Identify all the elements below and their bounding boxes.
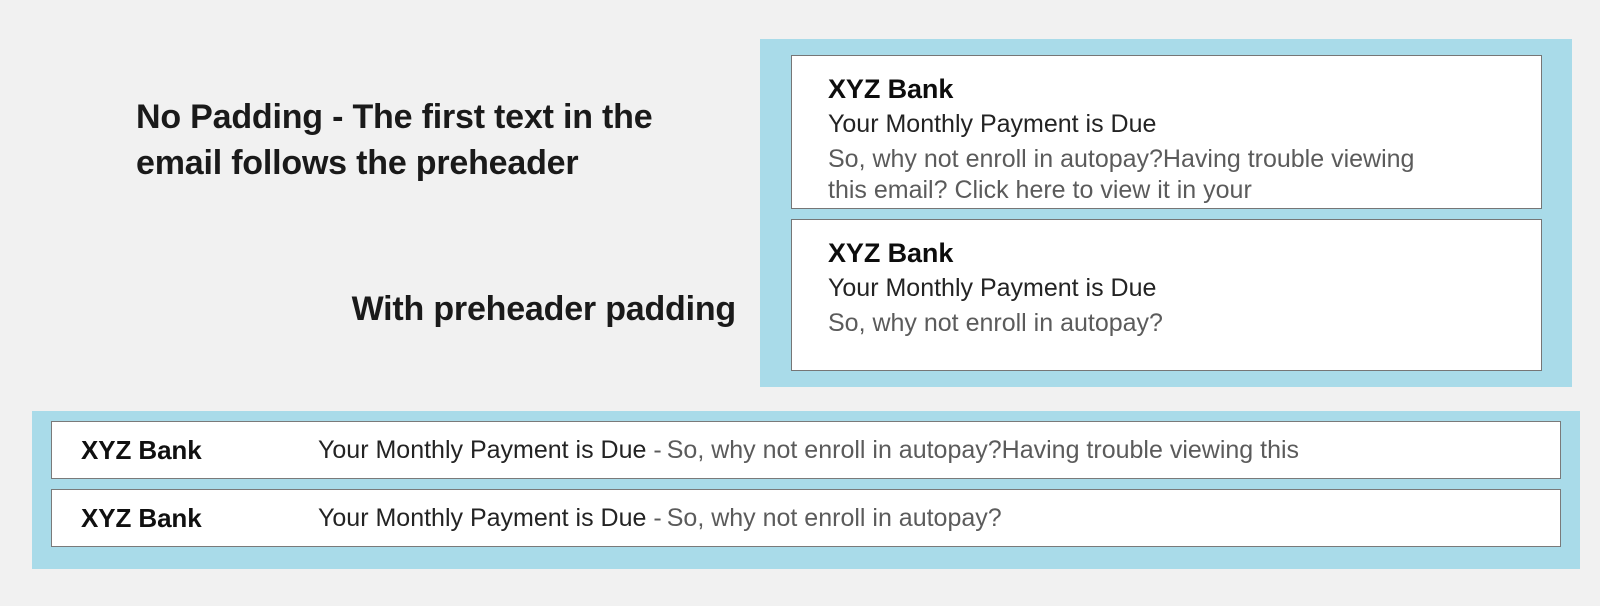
preview-snippet: So, why not enroll in autopay?Having tro… [828,144,1448,206]
preview-sender: XYZ Bank [828,236,1541,270]
inbox-list-row-with-padding[interactable]: XYZ Bank Your Monthly Payment is Due - S… [51,489,1561,547]
row-subject: Your Monthly Payment is Due [318,436,646,465]
inbox-list-row-no-padding[interactable]: XYZ Bank Your Monthly Payment is Due - S… [51,421,1561,479]
inbox-list-frame: XYZ Bank Your Monthly Payment is Due - S… [32,411,1580,569]
preview-sender: XYZ Bank [828,72,1541,106]
row-sender: XYZ Bank [52,435,318,466]
annotation-no-padding: No Padding - The first text in the email… [136,94,736,186]
row-snippet: So, why not enroll in autopay? [667,504,1002,533]
page-canvas: No Padding - The first text in the email… [0,0,1600,606]
row-snippet: So, why not enroll in autopay?Having tro… [667,436,1299,465]
email-preview-frame: XYZ Bank Your Monthly Payment is Due So,… [760,39,1572,387]
row-sender: XYZ Bank [52,503,318,534]
preview-snippet: So, why not enroll in autopay? [828,308,1448,339]
row-separator: - [646,504,666,533]
email-preview-card-with-padding[interactable]: XYZ Bank Your Monthly Payment is Due So,… [791,219,1542,371]
row-separator: - [646,436,666,465]
email-preview-card-no-padding[interactable]: XYZ Bank Your Monthly Payment is Due So,… [791,55,1542,209]
preview-subject: Your Monthly Payment is Due [828,107,1541,141]
preview-subject: Your Monthly Payment is Due [828,271,1541,305]
annotation-with-padding: With preheader padding [136,286,736,332]
row-subject: Your Monthly Payment is Due [318,504,646,533]
